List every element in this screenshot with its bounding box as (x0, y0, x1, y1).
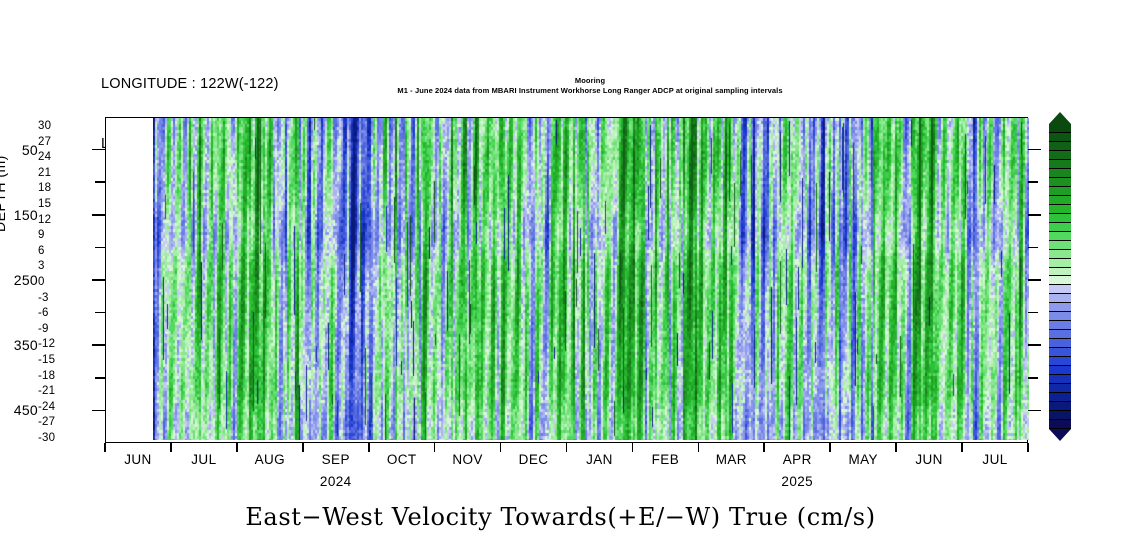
y-axis-tick-label: 450 (14, 402, 38, 418)
x-axis-month-label: NOV (452, 452, 482, 467)
colorbar-color-cell (1049, 160, 1071, 169)
colorbar-color-cell (1049, 285, 1071, 294)
colorbar-color-cell (1049, 402, 1071, 411)
y-axis-tick-major (92, 149, 105, 151)
y-axis-tick-major (92, 344, 105, 346)
figure-caption: East−West Velocity Towards(+E/−W) True (… (0, 503, 1121, 531)
x-axis-tick (302, 443, 304, 452)
y-axis-tick-minor (95, 181, 105, 183)
x-axis-tick (895, 443, 897, 452)
x-axis-month-label: JAN (586, 452, 613, 467)
colorbar-tick-label: -21 (38, 385, 55, 397)
y-axis-right-tick-minor (1028, 181, 1038, 183)
y-axis-right-tick-major (1028, 410, 1041, 412)
colorbar-color-cell (1049, 276, 1071, 285)
colorbar-color-cell (1049, 375, 1071, 384)
x-axis-year-label: 2025 (781, 474, 813, 489)
y-axis-right-tick-minor (1028, 377, 1038, 379)
heatmap-canvas (153, 118, 1029, 440)
x-axis-tick (104, 443, 106, 452)
colorbar-color-cell (1049, 142, 1071, 151)
plot-title-line2: M1 - June 2024 data from MBARI Instrumen… (152, 86, 1028, 96)
colorbar-tick-label: 30 (38, 120, 51, 132)
colorbar-color-cell (1049, 241, 1071, 250)
x-axis-month-label: MAY (848, 452, 877, 467)
colorbar-color-cell (1049, 178, 1071, 187)
x-axis-month-label: JUL (982, 452, 1007, 467)
colorbar-tick-label: 9 (38, 229, 45, 241)
x-axis-month-label: OCT (387, 452, 417, 467)
colorbar-color-cell (1049, 187, 1071, 196)
x-axis-month-label: SEP (322, 452, 350, 467)
y-axis-right-tick-major (1028, 344, 1041, 346)
colorbar-tick-label: 6 (38, 245, 45, 257)
plot-title-block: Mooring M1 - June 2024 data from MBARI I… (152, 76, 1028, 96)
colorbar-color-cell (1049, 232, 1071, 241)
x-axis-tick (961, 443, 963, 452)
x-axis-tick (829, 443, 831, 452)
x-axis-tick (170, 443, 172, 452)
x-axis-month-label: MAR (716, 452, 747, 467)
x-axis-tick (763, 443, 765, 452)
colorbar-color-cell (1049, 294, 1071, 303)
x-axis-tick (236, 443, 238, 452)
plot-frame (105, 117, 1028, 443)
x-axis-month-label: FEB (652, 452, 679, 467)
x-axis-month-label: APR (783, 452, 812, 467)
colorbar-tick-label: 3 (38, 260, 45, 272)
colorbar-color-cell (1049, 411, 1071, 420)
colorbar-color-cell (1049, 250, 1071, 259)
y-axis-tick-minor (95, 247, 105, 249)
colorbar-tick-label: 18 (38, 182, 51, 194)
colorbar-color-cell (1049, 339, 1071, 348)
x-axis-month-label: JUN (915, 452, 942, 467)
colorbar-body (1049, 124, 1071, 429)
y-axis-right-tick-major (1028, 214, 1041, 216)
colorbar-tick-label: -30 (38, 432, 55, 444)
plot-title-line1: Mooring (152, 76, 1028, 86)
y-axis-tick-label: 50 (22, 142, 38, 158)
y-axis-tick-major (92, 214, 105, 216)
colorbar-color-cell (1049, 366, 1071, 375)
colorbar-tick-label: -27 (38, 416, 55, 428)
colorbar-color-cell (1049, 303, 1071, 312)
y-axis-tick-minor (95, 377, 105, 379)
x-axis-month-label: JUN (124, 452, 151, 467)
colorbar-tick-label: -24 (38, 401, 55, 413)
colorbar-tick-label: -3 (38, 292, 49, 304)
colorbar-color-cell (1049, 124, 1071, 133)
x-axis-tick (434, 443, 436, 452)
y-axis-title: DEPTH (m) (0, 155, 8, 232)
y-axis-tick-major (92, 279, 105, 281)
y-axis-tick-minor (95, 312, 105, 314)
colorbar-tick-label: 0 (38, 276, 45, 288)
y-axis-right-tick-major (1028, 149, 1041, 151)
colorbar-color-cell (1049, 357, 1071, 366)
colorbar-tick-label: -15 (38, 354, 55, 366)
colorbar-color-cell (1049, 312, 1071, 321)
colorbar-tick-label: 24 (38, 151, 51, 163)
x-axis-tick (698, 443, 700, 452)
colorbar-tick-label: 21 (38, 167, 51, 179)
colorbar-color-cell (1049, 169, 1071, 178)
colorbar-color-cell (1049, 420, 1071, 429)
colorbar-color-cell (1049, 151, 1071, 160)
colorbar-color-cell (1049, 348, 1071, 357)
x-axis-tick (566, 443, 568, 452)
heatmap-data-region (153, 118, 1029, 440)
x-axis-month-label: DEC (519, 452, 549, 467)
colorbar-tick-label: -12 (38, 338, 55, 350)
y-axis-tick-label: 350 (14, 337, 38, 353)
colorbar-tick-label: -6 (38, 307, 49, 319)
colorbar-color-cell (1049, 133, 1071, 142)
x-axis-tick (500, 443, 502, 452)
x-axis-month-label: JUL (191, 452, 216, 467)
y-axis-tick-major (92, 410, 105, 412)
x-axis-tick (368, 443, 370, 452)
colorbar-extend-bottom-arrow-icon (1049, 429, 1071, 441)
colorbar-tick-label: 27 (38, 136, 51, 148)
x-axis-year-label: 2024 (320, 474, 352, 489)
y-axis-right-tick-minor (1028, 247, 1038, 249)
colorbar-color-cell (1049, 205, 1071, 214)
colorbar-color-cell (1049, 259, 1071, 268)
colorbar-color-cell (1049, 330, 1071, 339)
colorbar-tick-label: 15 (38, 198, 51, 210)
y-axis-tick-label: 250 (14, 272, 38, 288)
colorbar-extend-top-arrow-icon (1049, 112, 1071, 124)
x-axis-tick (632, 443, 634, 452)
y-axis-right-tick-major (1028, 279, 1041, 281)
x-axis-month-label: AUG (255, 452, 285, 467)
colorbar-tick-label: -18 (38, 370, 55, 382)
colorbar-color-cell (1049, 321, 1071, 330)
colorbar-color-cell (1049, 223, 1071, 232)
y-axis-right-tick-minor (1028, 312, 1038, 314)
colorbar-color-cell (1049, 384, 1071, 393)
y-axis-tick-label: 150 (14, 207, 38, 223)
colorbar-tick-label: -9 (38, 323, 49, 335)
colorbar-color-cell (1049, 393, 1071, 402)
colorbar-tick-label: 12 (38, 214, 51, 226)
colorbar-color-cell (1049, 214, 1071, 223)
x-axis-tick (1027, 443, 1029, 452)
colorbar-color-cell (1049, 268, 1071, 277)
colorbar-color-cell (1049, 196, 1071, 205)
